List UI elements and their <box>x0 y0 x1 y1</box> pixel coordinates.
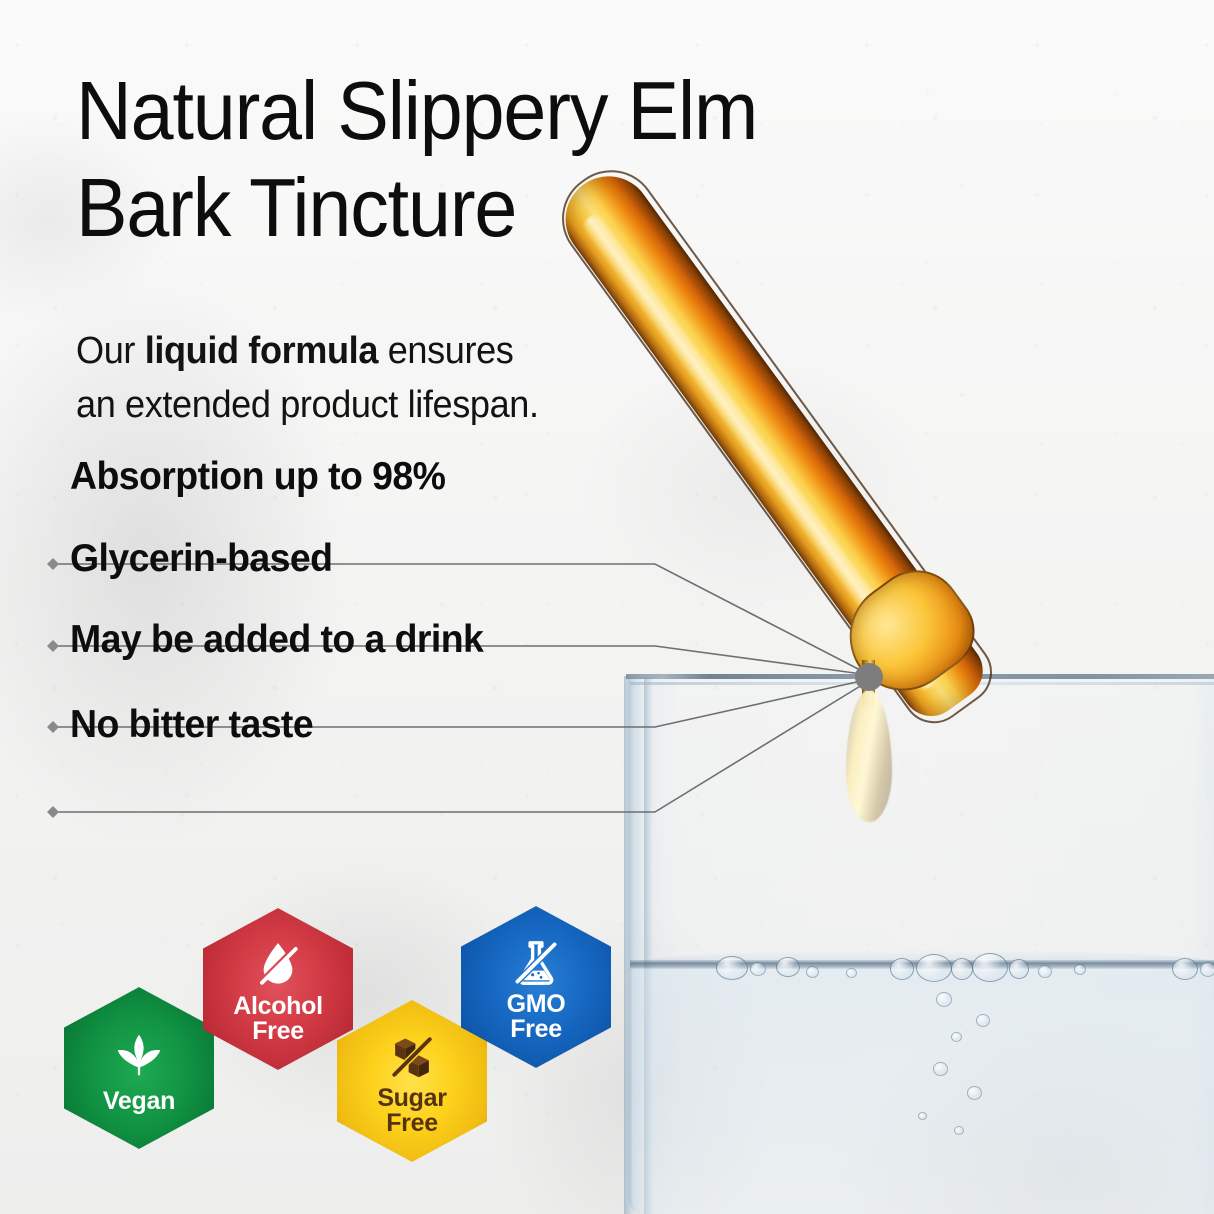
badge-alcohol-free-label: Alcohol Free <box>233 994 323 1045</box>
no-droplet-icon <box>251 938 305 992</box>
badge-gmo-free-label: GMO Free <box>507 992 566 1043</box>
leaves-icon <box>108 1025 170 1087</box>
badge-alcohol-free-line1: Alcohol <box>233 994 323 1020</box>
badge-gmo-free-line1: GMO <box>507 992 566 1018</box>
certification-badges: Vegan <box>0 0 1214 1214</box>
no-flask-icon <box>509 936 563 990</box>
badge-vegan: Vegan <box>64 987 214 1149</box>
badge-alcohol-free-line2: Free <box>233 1019 323 1045</box>
no-sugar-cubes-icon <box>385 1030 439 1084</box>
badge-sugar-free-line1: Sugar <box>377 1086 446 1112</box>
badge-sugar-free-line2: Free <box>377 1111 446 1137</box>
badge-sugar-free-label: Sugar Free <box>377 1086 446 1137</box>
badge-vegan-line1: Vegan <box>103 1089 175 1115</box>
badge-vegan-label: Vegan <box>103 1089 175 1115</box>
badge-alcohol-free: Alcohol Free <box>203 908 353 1070</box>
badge-gmo-free-line2: Free <box>507 1017 566 1043</box>
product-infographic: Natural Slippery Elm Bark Tincture Our l… <box>0 0 1214 1214</box>
